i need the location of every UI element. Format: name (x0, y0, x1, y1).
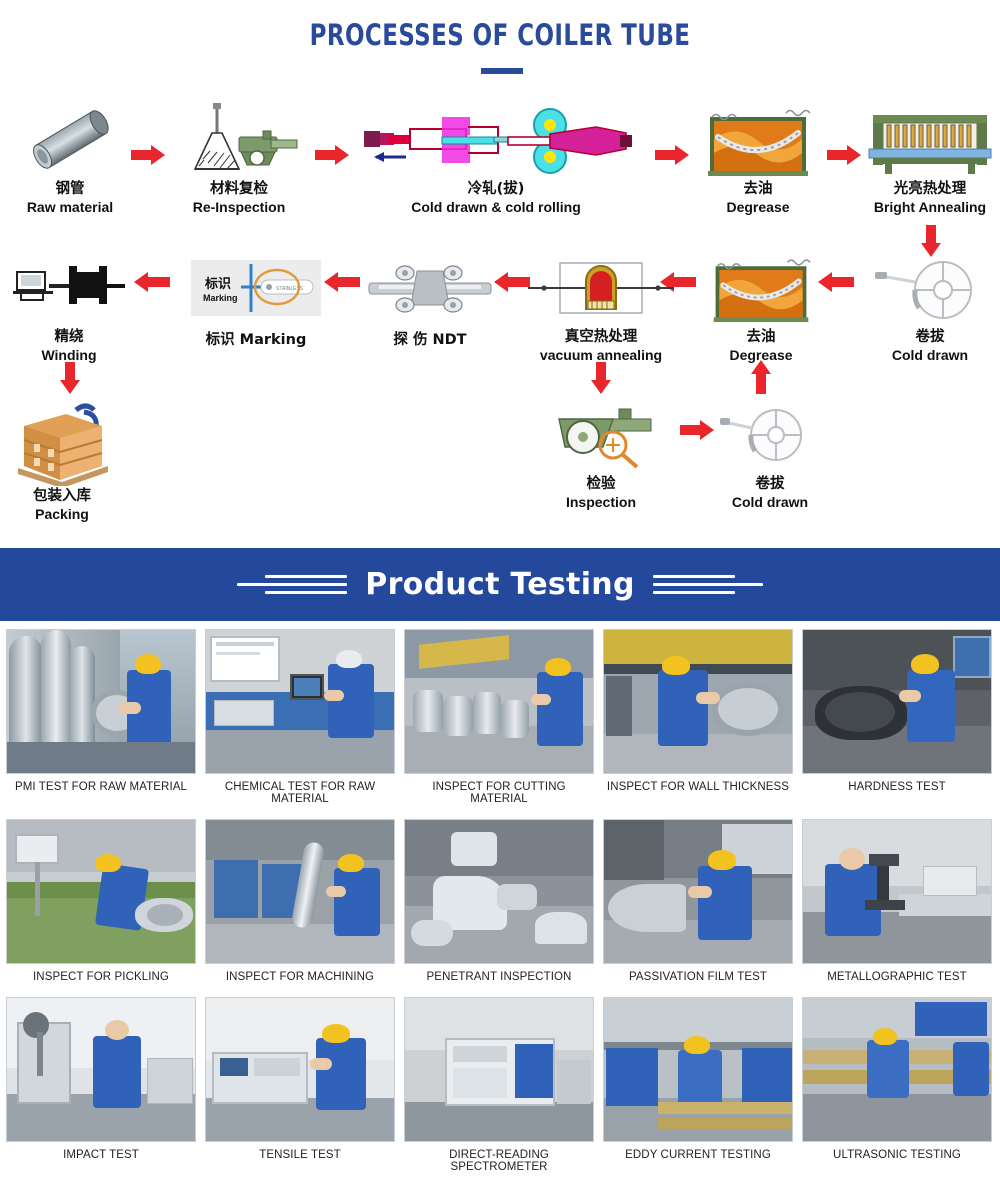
svg-text:Marking: Marking (203, 293, 238, 303)
node-label-en: Cold drawn (710, 493, 830, 511)
arrow-left-icon (818, 272, 854, 292)
photo-passivation-film-test[interactable] (603, 819, 793, 964)
node-label-cn: 探 伤 NDT (362, 328, 498, 349)
node-label-cn: 冷轧(拔) (358, 180, 634, 198)
node-label-cn: 卷拔 (862, 328, 998, 346)
photo-caption: CHEMICAL TEST FOR RAW MATERIAL (205, 774, 395, 805)
photo-caption: PASSIVATION FILM TEST (603, 964, 793, 983)
cold-draw-die-icon (358, 100, 634, 180)
node-label-cn: 去油 (695, 180, 821, 198)
photo-inspect-wall-thickness[interactable] (603, 629, 793, 774)
testing-cell[interactable]: EDDY CURRENT TESTING (603, 997, 793, 1173)
testing-cell[interactable]: INSPECT FOR CUTTING MATERIAL (404, 629, 594, 805)
photo-caption: IMPACT TEST (6, 1142, 196, 1161)
node-label-en: Raw material (8, 198, 132, 216)
photo-caption: INSPECT FOR CUTTING MATERIAL (404, 774, 594, 805)
title-underline (481, 68, 523, 74)
photo-pmi-test[interactable] (6, 629, 196, 774)
steel-tube-icon (8, 100, 132, 180)
product-testing-banner: Product Testing (0, 548, 1000, 621)
banner-decoration-right-icon (653, 575, 763, 594)
photo-caption: INSPECT FOR PICKLING (6, 964, 196, 983)
node-label-en: Cold drawn (862, 346, 998, 364)
arrow-right-icon (827, 145, 863, 165)
ndt-roller-icon (362, 248, 498, 328)
node-label-cn: 包装入库 (2, 487, 122, 505)
node-label-en: Re-Inspection (176, 198, 302, 216)
node-label-cn: 钢管 (8, 180, 132, 198)
inspection-gauge-icon (538, 395, 664, 475)
node-label-en: Inspection (538, 493, 664, 511)
testing-cell[interactable]: PASSIVATION FILM TEST (603, 819, 793, 983)
arrow-left-icon (134, 272, 170, 292)
testing-cell[interactable]: INSPECT FOR WALL THICKNESS (603, 629, 793, 805)
photo-eddy-current-testing[interactable] (603, 997, 793, 1142)
process-node-inspection: 检验 Inspection (538, 395, 664, 511)
banner-decoration-left-icon (237, 575, 347, 594)
process-node-marking: 标识 Marking STAINLESS 标识 Marking (188, 248, 324, 349)
svg-text:标识: 标识 (204, 276, 231, 292)
node-label-cn: 材料复检 (176, 180, 302, 198)
photo-inspect-machining[interactable] (205, 819, 395, 964)
testing-cell[interactable]: PENETRANT INSPECTION (404, 819, 594, 983)
photo-penetrant-inspection[interactable] (404, 819, 594, 964)
photo-caption: EDDY CURRENT TESTING (603, 1142, 793, 1161)
vacuum-furnace-icon (528, 248, 674, 328)
process-node-vacuum-annealing: 真空热处理 vacuum annealing (528, 248, 674, 364)
page-title: PROCESSES OF COILER TUBE (60, 18, 940, 52)
photo-ultrasonic-testing[interactable] (802, 997, 992, 1142)
photo-metallographic-test[interactable] (802, 819, 992, 964)
photo-caption: METALLOGRAPHIC TEST (802, 964, 992, 983)
node-label-en: Degrease (695, 198, 821, 216)
arrow-right-icon (315, 145, 351, 165)
node-label-cn: 精绕 (6, 328, 132, 346)
degrease-tank-icon (700, 248, 822, 328)
process-node-cold-drawn-2: 卷拔 Cold drawn (710, 395, 830, 511)
node-label-cn: 真空热处理 (528, 328, 674, 346)
coil-wheel-icon (862, 248, 998, 328)
photo-caption: TENSILE TEST (205, 1142, 395, 1161)
photo-inspect-cutting[interactable] (404, 629, 594, 774)
testing-cell[interactable]: ULTRASONIC TESTING (802, 997, 992, 1173)
arrow-left-icon (494, 272, 530, 292)
testing-cell[interactable]: PMI TEST FOR RAW MATERIAL (6, 629, 196, 805)
marking-label-icon: 标识 Marking STAINLESS (188, 248, 324, 328)
photo-hardness-test[interactable] (802, 629, 992, 774)
testing-photo-grid: PMI TEST FOR RAW MATERIAL CHEMICAL TEST … (6, 629, 994, 1173)
winding-spool-icon (6, 248, 132, 328)
testing-cell[interactable]: HARDNESS TEST (802, 629, 992, 805)
testing-cell[interactable]: DIRECT-READING SPECTROMETER (404, 997, 594, 1173)
node-label-cn: 标识 Marking (188, 328, 324, 349)
node-label-cn: 光亮热处理 (862, 180, 998, 198)
node-label-en: Packing (2, 505, 122, 523)
process-node-winding: 精绕 Winding (6, 248, 132, 364)
testing-cell[interactable]: TENSILE TEST (205, 997, 395, 1173)
photo-caption: INSPECT FOR WALL THICKNESS (603, 774, 793, 793)
photo-chemical-test[interactable] (205, 629, 395, 774)
photo-caption: PMI TEST FOR RAW MATERIAL (6, 774, 196, 793)
node-label-cn: 检验 (538, 475, 664, 493)
arrow-up-icon (751, 360, 771, 394)
photo-caption: PENETRANT INSPECTION (404, 964, 594, 983)
photo-impact-test[interactable] (6, 997, 196, 1142)
arrow-down-icon (60, 362, 80, 396)
arrow-down-icon (591, 362, 611, 396)
node-label-cn: 去油 (700, 328, 822, 346)
testing-cell[interactable]: METALLOGRAPHIC TEST (802, 819, 992, 983)
banner-title: Product Testing (365, 567, 634, 602)
testing-cell[interactable]: IMPACT TEST (6, 997, 196, 1173)
photo-caption: ULTRASONIC TESTING (802, 1142, 992, 1161)
arrow-right-icon (655, 145, 691, 165)
annealing-furnace-icon (862, 100, 998, 180)
node-label-cn: 卷拔 (710, 475, 830, 493)
photo-caption: INSPECT FOR MACHINING (205, 964, 395, 983)
process-node-raw-material: 钢管 Raw material (8, 100, 132, 216)
photo-inspect-pickling[interactable] (6, 819, 196, 964)
coil-wheel-icon (710, 395, 830, 475)
arrow-right-icon (131, 145, 167, 165)
process-node-bright-annealing: 光亮热处理 Bright Annealing (862, 100, 998, 216)
testing-cell[interactable]: INSPECT FOR PICKLING (6, 819, 196, 983)
node-label-en: Bright Annealing (862, 198, 998, 216)
process-node-cold-drawn-1: 卷拔 Cold drawn (862, 248, 998, 364)
process-node-ndt: 探 伤 NDT (362, 248, 498, 349)
node-label-en: Cold drawn & cold rolling (358, 198, 634, 216)
testing-cell[interactable]: INSPECT FOR MACHINING (205, 819, 395, 983)
photo-caption: HARDNESS TEST (802, 774, 992, 793)
process-node-degrease-1: 去油 Degrease (695, 100, 821, 216)
process-node-re-inspection: 材料复检 Re-Inspection (176, 100, 302, 216)
photo-direct-reading-spectrometer[interactable] (404, 997, 594, 1142)
process-node-packing: 包装入库 Packing (2, 395, 122, 523)
photo-tensile-test[interactable] (205, 997, 395, 1142)
process-node-degrease-2: 去油 Degrease (700, 248, 822, 364)
degrease-tank-icon (695, 100, 821, 180)
process-section: PROCESSES OF COILER TUBE 钢管 Raw material (0, 0, 1000, 548)
packing-pallet-icon (2, 395, 122, 487)
process-node-cold-drawn-rolling: 冷轧(拔) Cold drawn & cold rolling (358, 100, 634, 216)
flask-caliper-icon (176, 100, 302, 180)
photo-caption: DIRECT-READING SPECTROMETER (404, 1142, 594, 1173)
testing-cell[interactable]: CHEMICAL TEST FOR RAW MATERIAL (205, 629, 395, 805)
arrow-left-icon (324, 272, 360, 292)
